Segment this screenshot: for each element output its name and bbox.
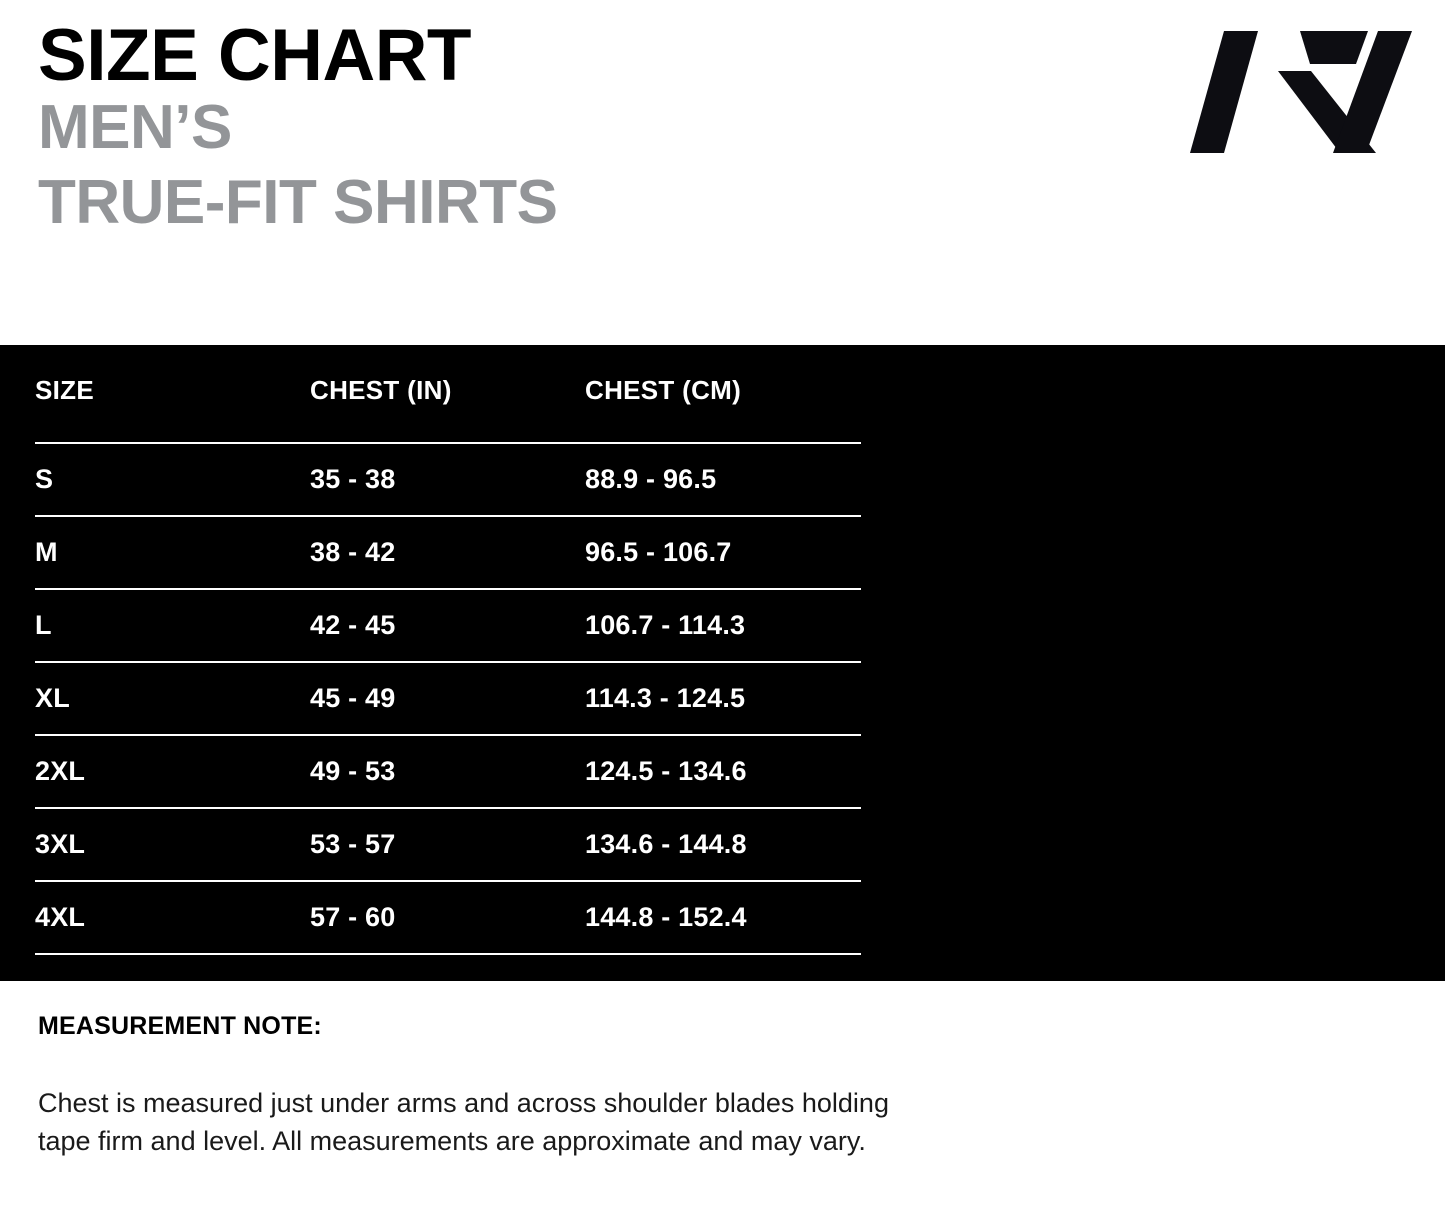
size-table-panel: SIZE CHEST (IN) CHEST (CM) S 35 - 38 88.… xyxy=(0,345,1445,981)
page-title: SIZE CHART xyxy=(38,22,557,90)
table-row: L 42 - 45 106.7 - 114.3 xyxy=(35,589,861,662)
table-row: XL 45 - 49 114.3 - 124.5 xyxy=(35,662,861,735)
cell-chest-cm: 88.9 - 96.5 xyxy=(585,443,861,516)
cell-size: 4XL xyxy=(35,881,310,954)
page-subtitle-line1: MEN’S xyxy=(38,90,557,165)
measurement-note-body: Chest is measured just under arms and ac… xyxy=(38,1084,898,1161)
table-row: 3XL 53 - 57 134.6 - 144.8 xyxy=(35,808,861,881)
cell-chest-in: 53 - 57 xyxy=(310,808,585,881)
cell-chest-cm: 106.7 - 114.3 xyxy=(585,589,861,662)
cell-chest-cm: 96.5 - 106.7 xyxy=(585,516,861,589)
title-block: SIZE CHART MEN’S TRUE-FIT SHIRTS xyxy=(38,22,557,240)
cell-size: L xyxy=(35,589,310,662)
cell-size: S xyxy=(35,443,310,516)
size-table-head: SIZE CHEST (IN) CHEST (CM) xyxy=(35,375,861,443)
table-row: 2XL 49 - 53 124.5 - 134.6 xyxy=(35,735,861,808)
cell-chest-in: 49 - 53 xyxy=(310,735,585,808)
a7-logo-icon xyxy=(1190,30,1412,154)
cell-chest-cm: 144.8 - 152.4 xyxy=(585,881,861,954)
cell-chest-in: 42 - 45 xyxy=(310,589,585,662)
cell-chest-in: 35 - 38 xyxy=(310,443,585,516)
cell-size: XL xyxy=(35,662,310,735)
header: SIZE CHART MEN’S TRUE-FIT SHIRTS xyxy=(0,0,1445,345)
cell-chest-cm: 114.3 - 124.5 xyxy=(585,662,861,735)
cell-size: 3XL xyxy=(35,808,310,881)
size-table-wrapper: SIZE CHEST (IN) CHEST (CM) S 35 - 38 88.… xyxy=(35,375,861,955)
measurement-note-section: MEASUREMENT NOTE: Chest is measured just… xyxy=(38,1012,938,1161)
cell-chest-in: 57 - 60 xyxy=(310,881,585,954)
cell-chest-in: 38 - 42 xyxy=(310,516,585,589)
measurement-note-heading: MEASUREMENT NOTE: xyxy=(38,1012,938,1041)
column-header-chest-in: CHEST (IN) xyxy=(310,375,585,443)
table-header-row: SIZE CHEST (IN) CHEST (CM) xyxy=(35,375,861,443)
size-table: SIZE CHEST (IN) CHEST (CM) S 35 - 38 88.… xyxy=(35,375,861,955)
cell-chest-cm: 124.5 - 134.6 xyxy=(585,735,861,808)
table-row: S 35 - 38 88.9 - 96.5 xyxy=(35,443,861,516)
cell-size: 2XL xyxy=(35,735,310,808)
page-subtitle-line2: TRUE-FIT SHIRTS xyxy=(38,165,557,240)
size-chart-page: SIZE CHART MEN’S TRUE-FIT SHIRTS xyxy=(0,0,1445,1228)
table-row: M 38 - 42 96.5 - 106.7 xyxy=(35,516,861,589)
size-table-body: S 35 - 38 88.9 - 96.5 M 38 - 42 96.5 - 1… xyxy=(35,443,861,954)
column-header-chest-cm: CHEST (CM) xyxy=(585,375,861,443)
cell-chest-cm: 134.6 - 144.8 xyxy=(585,808,861,881)
cell-size: M xyxy=(35,516,310,589)
column-header-size: SIZE xyxy=(35,375,310,443)
cell-chest-in: 45 - 49 xyxy=(310,662,585,735)
table-row: 4XL 57 - 60 144.8 - 152.4 xyxy=(35,881,861,954)
